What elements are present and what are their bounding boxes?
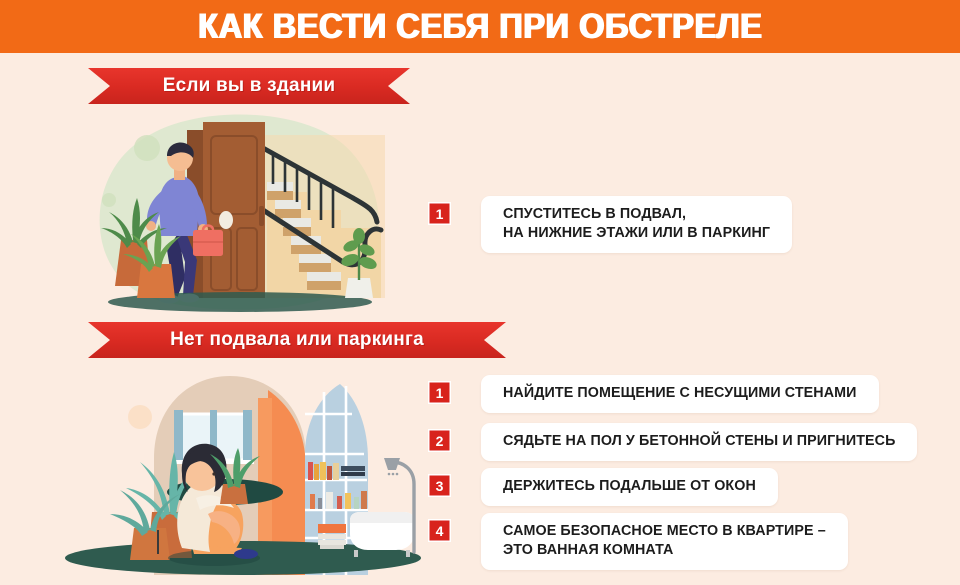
ribbon-label: Нет подвала или паркинга [170, 329, 424, 351]
header-band: КАК ВЕСТИ СЕБЯ ПРИ ОБСТРЕЛЕ [0, 0, 960, 53]
item-number-badge: 4 [428, 519, 451, 542]
list-item: 4 САМОЕ БЕЗОПАСНОЕ МЕСТО В КВАРТИРЕ – ЭТ… [428, 513, 848, 570]
item-card: НАЙДИТЕ ПОМЕЩЕНИЕ С НЕСУЩИМИ СТЕНАМИ [481, 375, 879, 413]
item-card: СЯДЬТЕ НА ПОЛ У БЕТОННОЙ СТЕНЫ И ПРИГНИТ… [481, 423, 917, 461]
item-text: САМОЕ БЕЗОПАСНОЕ МЕСТО В КВАРТИРЕ – ЭТО … [503, 522, 826, 560]
section-ribbon-no-basement: Нет подвала или паркинга [88, 322, 506, 358]
item-text: СЯДЬТЕ НА ПОЛ У БЕТОННОЙ СТЕНЫ И ПРИГНИТ… [503, 432, 895, 451]
illustration-apartment-bathroom [62, 362, 424, 575]
list-item: 1 СПУСТИТЕСЬ В ПОДВАЛ, НА НИЖНИЕ ЭТАЖИ И… [428, 196, 792, 253]
item-text: СПУСТИТЕСЬ В ПОДВАЛ, НА НИЖНИЕ ЭТАЖИ ИЛИ… [503, 205, 770, 243]
section-ribbon-building: Если вы в здании [88, 68, 410, 104]
list-item: 2 СЯДЬТЕ НА ПОЛ У БЕТОННОЙ СТЕНЫ И ПРИГН… [428, 423, 917, 461]
item-number-badge: 3 [428, 474, 451, 497]
item-number-badge: 1 [428, 202, 451, 225]
list-item: 1 НАЙДИТЕ ПОМЕЩЕНИЕ С НЕСУЩИМИ СТЕНАМИ [428, 375, 879, 413]
item-number-badge: 2 [428, 429, 451, 452]
item-text: НАЙДИТЕ ПОМЕЩЕНИЕ С НЕСУЩИМИ СТЕНАМИ [503, 384, 857, 403]
illustration-hallway-staircase [85, 110, 405, 315]
item-number-badge: 1 [428, 381, 451, 404]
infographic-page: КАК ВЕСТИ СЕБЯ ПРИ ОБСТРЕЛЕ Если вы в зд… [0, 0, 960, 585]
page-title: КАК ВЕСТИ СЕБЯ ПРИ ОБСТРЕЛЕ [198, 9, 762, 44]
ribbon-label: Если вы в здании [163, 75, 336, 97]
item-text: ДЕРЖИТЕСЬ ПОДАЛЬШЕ ОТ ОКОН [503, 477, 756, 496]
item-card: СПУСТИТЕСЬ В ПОДВАЛ, НА НИЖНИЕ ЭТАЖИ ИЛИ… [481, 196, 792, 253]
list-item: 3 ДЕРЖИТЕСЬ ПОДАЛЬШЕ ОТ ОКОН [428, 468, 778, 506]
item-card: ДЕРЖИТЕСЬ ПОДАЛЬШЕ ОТ ОКОН [481, 468, 778, 506]
item-card: САМОЕ БЕЗОПАСНОЕ МЕСТО В КВАРТИРЕ – ЭТО … [481, 513, 848, 570]
